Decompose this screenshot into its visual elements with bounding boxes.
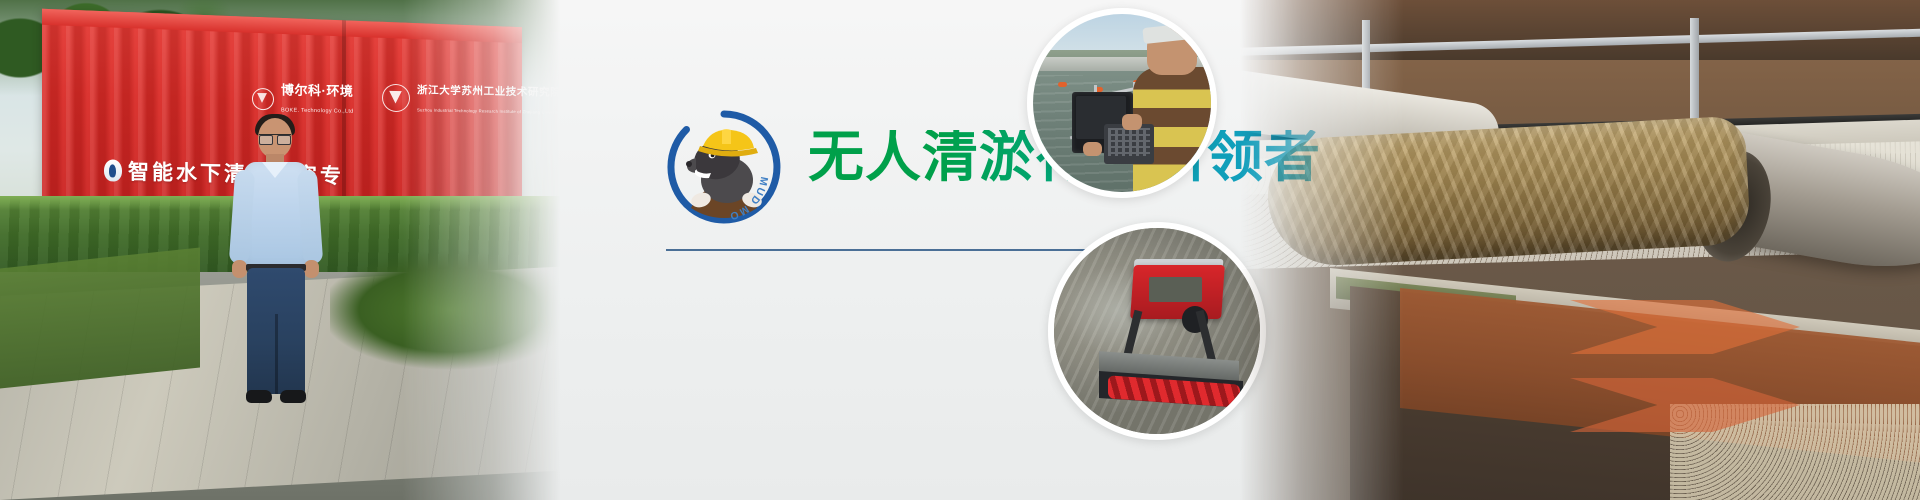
slogan-mark-icon — [104, 159, 122, 181]
rp-sludge-flow — [1265, 116, 1751, 269]
institute-en-text: Suzhou Industrial Technology Research In… — [417, 107, 560, 115]
person-figure — [222, 118, 332, 418]
grass-patch — [0, 247, 200, 388]
brand-cn-text: 博尔科·环境 — [281, 82, 353, 98]
chevron-overlay — [1570, 300, 1920, 480]
brand-emblem-icon — [252, 88, 274, 110]
glasses-icon — [259, 134, 291, 143]
institute-cn-text: 浙江大学苏州工业技术研究院 — [417, 84, 560, 99]
person-shoe-left — [246, 390, 272, 403]
circle-photo-dredging-robot — [1048, 222, 1266, 440]
person-hand-right — [304, 260, 319, 278]
c2-robot-equipment-bay — [1149, 277, 1203, 302]
rp-sludge-texture — [1265, 116, 1751, 269]
right-photo — [1240, 0, 1920, 500]
mud-mole-logo: MUD MOLE — [665, 108, 783, 226]
person-leg-split — [275, 314, 278, 394]
brand-en-text: BOKE. Technology Co.,Ltd — [281, 107, 354, 114]
container-brand-primary: 博尔科·环境 BOKE. Technology Co.,Ltd — [252, 82, 354, 117]
chevron-arrow-icon — [1570, 300, 1800, 354]
c1-control-buttons — [1108, 128, 1151, 156]
shrub-right — [330, 250, 560, 370]
person-hand-left — [232, 260, 247, 278]
c1-operator-hand-right — [1122, 114, 1142, 130]
chevron-arrow-icon — [1570, 378, 1800, 432]
c1-operator-hand-left — [1083, 142, 1103, 156]
hero-banner: 博尔科·环境 BOKE. Technology Co.,Ltd 浙江大学苏州工业… — [0, 0, 1920, 500]
c1-float-buoy — [1058, 82, 1067, 87]
person-shoe-right — [280, 390, 306, 403]
left-photo: 博尔科·环境 BOKE. Technology Co.,Ltd 浙江大学苏州工业… — [0, 0, 560, 500]
circle-photo-operator — [1027, 8, 1217, 198]
institute-emblem-icon — [382, 83, 410, 111]
container-brand-institute: 浙江大学苏州工业技术研究院 Suzhou Industrial Technolo… — [382, 80, 560, 118]
